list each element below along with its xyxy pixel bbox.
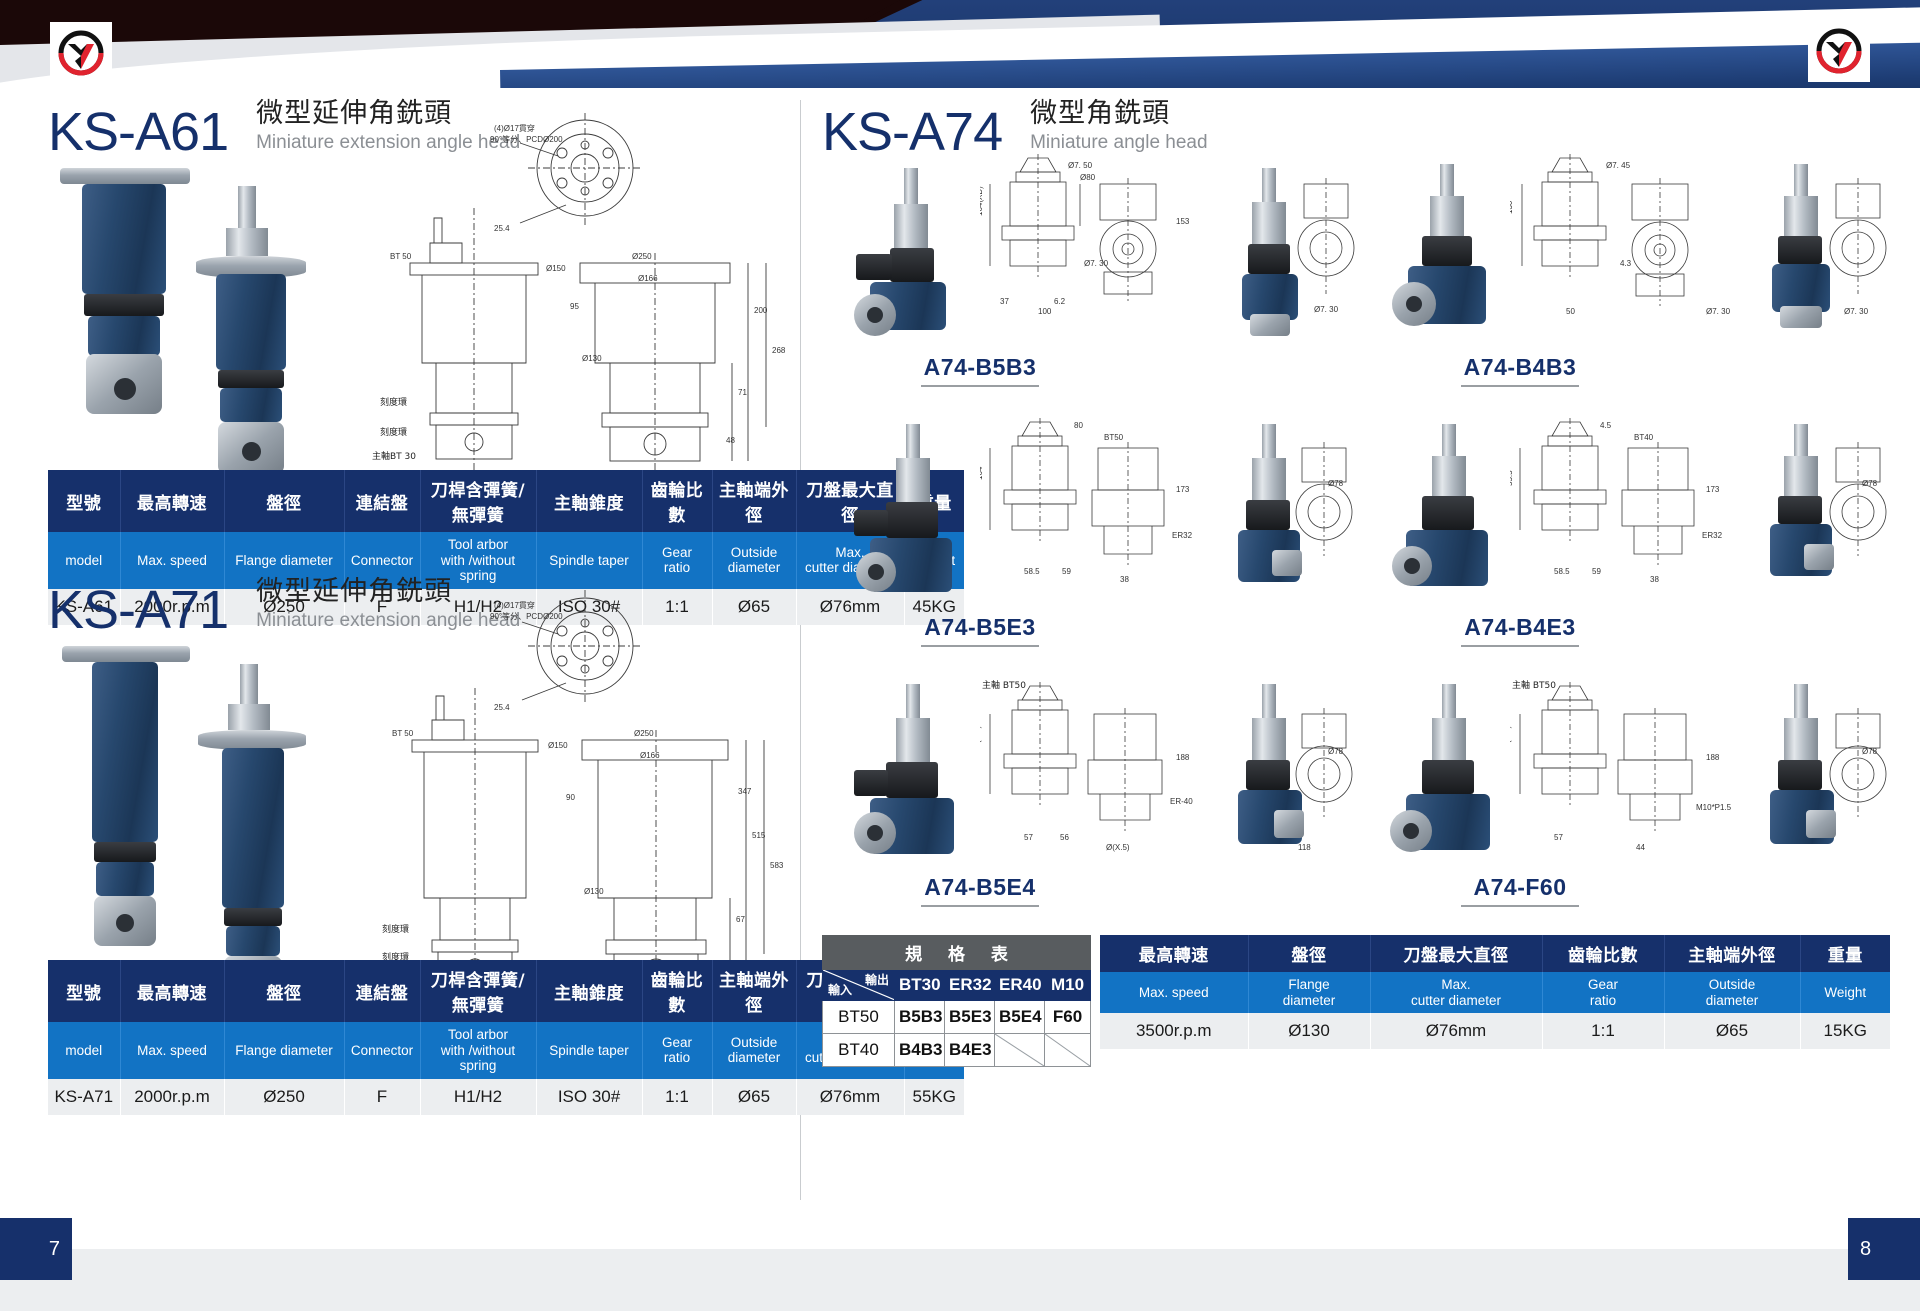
spec-table-a74: 最高轉速盤徑刀盤最大直徑齒輪比數主軸端外徑重量 Max. speedFlange… xyxy=(1100,935,1890,1049)
spec-a61-header-cn-6: 齒輪比數 xyxy=(642,470,712,532)
cad-a74-3b: Ø78 xyxy=(1822,414,1894,604)
svg-text:44: 44 xyxy=(1636,843,1645,852)
svg-text:4.3: 4.3 xyxy=(1620,259,1632,268)
cad-a74-0: Ø7. 50 Ø80 164(XD) Ø7. 30 153 100 37 6.2 xyxy=(980,154,1220,344)
section-title-cn-a74: 微型角銑頭 xyxy=(1030,98,1207,129)
matrix-cell-1-0: B4B3 xyxy=(895,1034,945,1067)
svg-text:刻度環: 刻度環 xyxy=(380,396,407,408)
svg-text:58.5: 58.5 xyxy=(1024,567,1040,576)
svg-text:57: 57 xyxy=(1554,833,1563,842)
svg-text:Ø78: Ø78 xyxy=(1328,747,1344,756)
a74-label-underline-1 xyxy=(1461,385,1579,387)
svg-text:ER32: ER32 xyxy=(1172,531,1193,540)
spec-a71-cell-0-2: Ø250 xyxy=(224,1079,344,1115)
spec-a74-header-cn-1: 盤徑 xyxy=(1248,935,1370,972)
svg-text:主軸BT 30: 主軸BT 30 xyxy=(372,450,416,462)
spec-a74-header-cn-3: 齒輪比數 xyxy=(1542,935,1664,972)
matrix-header-row: 輸出輸入BT30ER32ER40M10 xyxy=(823,970,1091,1001)
svg-text:25.4: 25.4 xyxy=(494,703,510,712)
svg-text:37: 37 xyxy=(1000,297,1009,306)
cad-a74-1b: Ø7. 30 xyxy=(1822,154,1894,344)
matrix-title-row: 規 格 表 xyxy=(823,936,1091,970)
spec-a61-header-cn-2: 盤徑 xyxy=(224,470,344,532)
svg-text:50: 50 xyxy=(1566,307,1575,316)
svg-text:Ø78: Ø78 xyxy=(1862,747,1878,756)
spec-a71-header-en-5: Spindle taper xyxy=(536,1022,642,1079)
a74-variant-label-2: A74-B5E3 xyxy=(820,614,1140,641)
cad-note-bolt-2: 90°等分、PCDØ200 xyxy=(490,134,563,144)
spec-a74-header-cn-0: 最高轉速 xyxy=(1100,935,1248,972)
spec-table-a74-header-cn: 最高轉速盤徑刀盤最大直徑齒輪比數主軸端外徑重量 xyxy=(1100,935,1890,972)
svg-text:Ø7. 50: Ø7. 50 xyxy=(1068,161,1093,170)
matrix-empty-slash-icon xyxy=(995,1034,1044,1066)
cad-a74-2: 80 BT50 164 173 ER32 58.5 59 38 xyxy=(980,414,1220,604)
section-code-a71: KS-A71 xyxy=(48,583,228,637)
svg-text:67: 67 xyxy=(736,915,745,924)
cad-note-bolt-1: (4)Ø17貫穿 xyxy=(494,123,535,133)
footer-grey-band xyxy=(0,1249,1920,1311)
section-code-a74: KS-A74 xyxy=(822,105,1002,159)
matrix-corner-slash-icon xyxy=(823,970,894,1000)
matrix-row-header-1: BT40 xyxy=(823,1034,895,1067)
svg-text:6.2: 6.2 xyxy=(1054,297,1066,306)
company-logo-icon-right xyxy=(1808,20,1870,82)
svg-text:42(X.2): 42(X.2) xyxy=(980,725,982,752)
matrix-table-a74: 規 格 表 輸出輸入BT30ER32ER40M10 BT50B5B3B5E3B5… xyxy=(822,935,1091,1067)
a74-label-underline-2 xyxy=(921,645,1039,647)
spec-a71-header-cn-3: 連結盤 xyxy=(344,960,420,1022)
spec-a61-header-cn-1: 最高轉速 xyxy=(120,470,224,532)
a74-label-underline-5 xyxy=(1461,905,1579,907)
spec-a74-header-en-4: Outsidediameter xyxy=(1664,972,1800,1013)
matrix-col-header-0: BT30 xyxy=(895,970,945,1001)
a74-variant-label-4: A74-B5E4 xyxy=(820,874,1140,901)
product-photos-a61: (4)Ø17貫穿 90°等分、PCDØ200 25.4 BT 50 Ø150 Ø… xyxy=(0,168,800,468)
a74-label-underline-0 xyxy=(921,385,1039,387)
svg-text:100: 100 xyxy=(1038,307,1052,316)
a74-variant-3: 4.5 BT40 55.5 173 ER32 58.5 59 38 xyxy=(1360,414,1900,658)
spec-a74-cell-0-4: Ø65 xyxy=(1664,1013,1800,1049)
section-code-a61: KS-A61 xyxy=(48,105,228,159)
page-number-right: 8 xyxy=(1848,1218,1920,1280)
cad-a74-4b: Ø78 118 xyxy=(1288,674,1360,864)
product-photos-a71: (4)Ø17貫穿 90°等分、PCDØ200 25.4 BT 50 Ø150 Ø… xyxy=(0,646,800,966)
svg-text:Ø150: Ø150 xyxy=(546,264,566,273)
a74-variant-label-3: A74-B4E3 xyxy=(1360,614,1680,641)
spec-table-a74-header-en: Max. speedFlangediameterMax.cutter diame… xyxy=(1100,972,1890,1013)
spec-a71-cell-0-4: H1/H2 xyxy=(420,1079,536,1115)
cad-a74-1: Ø7. 45 130 4.3 Ø7. 30 50 xyxy=(1510,154,1750,344)
svg-text:Ø78: Ø78 xyxy=(1328,479,1344,488)
spec-a74-header-en-5: Weight xyxy=(1800,972,1890,1013)
page-footer: 7 8 xyxy=(0,1218,1920,1311)
svg-text:164: 164 xyxy=(980,466,984,480)
spec-a71-header-cn-6: 齒輪比數 xyxy=(642,960,712,1022)
spec-a71-header-en-2: Flange diameter xyxy=(224,1022,344,1079)
spec-a71-header-cn-4: 刀桿含彈簧/無彈簧 xyxy=(420,960,536,1022)
spec-a61-header-cn-0: 型號 xyxy=(48,470,120,532)
svg-text:200: 200 xyxy=(754,306,768,315)
svg-text:Ø7. 30: Ø7. 30 xyxy=(1844,307,1869,316)
spec-a71-header-cn-7: 主軸端外徑 xyxy=(712,960,796,1022)
a74-variant-label-5: A74-F60 xyxy=(1360,874,1680,901)
svg-text:Ø80: Ø80 xyxy=(1080,173,1096,182)
spec-a71-header-cn-1: 最高轉速 xyxy=(120,960,224,1022)
svg-text:BT 50: BT 50 xyxy=(392,729,414,738)
spec-a61-header-en-6: Gearratio xyxy=(642,532,712,589)
svg-text:Ø166: Ø166 xyxy=(640,751,660,760)
cad-a74-3: 4.5 BT40 55.5 173 ER32 58.5 59 38 xyxy=(1510,414,1750,604)
svg-text:Ø7. 30: Ø7. 30 xyxy=(1706,307,1731,316)
svg-text:Ø130: Ø130 xyxy=(582,354,602,363)
cad-a74-5: 主軸 BT50 42(X.2) 188 M10*P1.5 57 44 xyxy=(1510,674,1750,864)
svg-text:173: 173 xyxy=(1706,485,1720,494)
spec-a71-header-cn-0: 型號 xyxy=(48,960,120,1022)
svg-text:57: 57 xyxy=(1024,833,1033,842)
svg-text:25.4: 25.4 xyxy=(494,224,510,233)
matrix-row-header-0: BT50 xyxy=(823,1001,895,1034)
svg-text:42(X.2): 42(X.2) xyxy=(1510,725,1512,752)
matrix-cell-0-1: B5E3 xyxy=(945,1001,995,1034)
spec-a71-header-en-7: Outsidediameter xyxy=(712,1022,796,1079)
matrix-cell-1-1: B4E3 xyxy=(945,1034,995,1067)
spec-a71-header-cn-5: 主軸錐度 xyxy=(536,960,642,1022)
svg-text:Ø78: Ø78 xyxy=(1862,479,1878,488)
matrix-corner-cell: 輸出輸入 xyxy=(823,970,895,1001)
svg-text:130: 130 xyxy=(1510,200,1514,214)
section-heading-a74: KS-A74 微型角銑頭 Miniature angle head xyxy=(822,98,1208,159)
spec-a71-header-en-1: Max. speed xyxy=(120,1022,224,1079)
svg-text:583: 583 xyxy=(770,861,784,870)
svg-text:55.5: 55.5 xyxy=(1510,470,1514,486)
svg-text:Ø166: Ø166 xyxy=(638,274,658,283)
svg-text:Ø130: Ø130 xyxy=(584,887,604,896)
right-column: KS-A74 微型角銑頭 Miniature angle head xyxy=(800,88,1920,1218)
section-title-en-a74: Miniature angle head xyxy=(1030,131,1207,156)
matrix-col-header-2: ER40 xyxy=(995,970,1045,1001)
matrix-cell-1-3 xyxy=(1045,1034,1091,1067)
spec-table-a74-body: 3500r.p.mØ130Ø76mm1:1Ø6515KG xyxy=(1100,1013,1890,1049)
matrix-col-header-1: ER32 xyxy=(945,970,995,1001)
svg-text:BT40: BT40 xyxy=(1634,433,1654,442)
svg-text:58.5: 58.5 xyxy=(1554,567,1570,576)
matrix-cell-1-2 xyxy=(995,1034,1045,1067)
spec-a61-header-en-5: Spindle taper xyxy=(536,532,642,589)
spec-a71-header-en-6: Gearratio xyxy=(642,1022,712,1079)
svg-text:38: 38 xyxy=(1650,575,1659,584)
matrix-body: BT50B5B3B5E3B5E4F60BT40B4B3B4E3 xyxy=(823,1001,1091,1067)
spec-a74-cell-0-2: Ø76mm xyxy=(1370,1013,1542,1049)
matrix-row: BT50B5B3B5E3B5E4F60 xyxy=(823,1001,1091,1034)
spec-a74-header-cn-4: 主軸端外徑 xyxy=(1664,935,1800,972)
svg-text:164(XD): 164(XD) xyxy=(980,186,984,216)
svg-text:90°等分、PCDØ200: 90°等分、PCDØ200 xyxy=(490,611,563,621)
spec-a74-cell-0-3: 1:1 xyxy=(1542,1013,1664,1049)
svg-text:59: 59 xyxy=(1062,567,1071,576)
spec-a74-cell-0-0: 3500r.p.m xyxy=(1100,1013,1248,1049)
matrix-title: 規 格 表 xyxy=(823,936,1091,970)
cad-a74-5b: Ø78 xyxy=(1822,674,1894,864)
svg-text:48: 48 xyxy=(726,436,735,445)
catalog-page: KS-A61 微型延伸角銑頭 Miniature extension angle… xyxy=(0,0,1920,1311)
svg-text:188: 188 xyxy=(1706,753,1720,762)
page-number-left: 7 xyxy=(0,1218,72,1280)
matrix-row: BT40B4B3B4E3 xyxy=(823,1034,1091,1067)
svg-text:173: 173 xyxy=(1176,485,1190,494)
svg-text:59: 59 xyxy=(1592,567,1601,576)
spec-a71-header-cn-2: 盤徑 xyxy=(224,960,344,1022)
svg-text:BT50: BT50 xyxy=(1104,433,1124,442)
page-banner xyxy=(0,0,1920,88)
svg-text:主軸 BT50: 主軸 BT50 xyxy=(982,679,1026,691)
svg-text:268: 268 xyxy=(772,346,786,355)
spec-a74-header-en-0: Max. speed xyxy=(1100,972,1248,1013)
spec-a71-cell-0-3: F xyxy=(344,1079,420,1115)
a74-variant-label-1: A74-B4B3 xyxy=(1360,354,1680,381)
cad-a74-2b: Ø78 xyxy=(1288,414,1360,604)
svg-text:4.5: 4.5 xyxy=(1600,421,1612,430)
a74-label-underline-3 xyxy=(1461,645,1579,647)
spec-a74-header-en-3: Gearratio xyxy=(1542,972,1664,1013)
spec-a71-cell-0-0: KS-A71 xyxy=(48,1079,120,1115)
svg-text:刻度環: 刻度環 xyxy=(380,426,407,438)
svg-text:ER32: ER32 xyxy=(1702,531,1723,540)
svg-text:Ø7. 30: Ø7. 30 xyxy=(1314,305,1339,314)
matrix-cell-0-2: B5E4 xyxy=(995,1001,1045,1034)
spec-a61-header-cn-4: 刀桿含彈簧/無彈簧 xyxy=(420,470,536,532)
svg-text:71: 71 xyxy=(738,388,747,397)
svg-text:(4)Ø17貫穿: (4)Ø17貫穿 xyxy=(494,600,535,610)
a74-variant-2: 80 BT50 164 173 ER32 58.5 59 38 xyxy=(820,414,1360,658)
svg-text:Ø7. 30: Ø7. 30 xyxy=(1084,259,1109,268)
a74-variant-1: Ø7. 45 130 4.3 Ø7. 30 50 xyxy=(1360,154,1900,398)
svg-text:ER-40: ER-40 xyxy=(1170,797,1193,806)
svg-text:刻度環: 刻度環 xyxy=(382,923,409,935)
a74-variant-4: 主軸 BT50 42(X.2) 188 ER-40 57 56 Ø(X.5) xyxy=(820,674,1360,918)
cad-a74-0b: Ø7. 30 xyxy=(1290,154,1360,344)
matrix-cell-0-0: B5B3 xyxy=(895,1001,945,1034)
spec-a71-cell-0-7: Ø65 xyxy=(712,1079,796,1115)
spec-a74-header-cn-5: 重量 xyxy=(1800,935,1890,972)
a74-variant-0: Ø7. 50 Ø80 164(XD) Ø7. 30 153 100 37 6.2 xyxy=(820,154,1360,398)
svg-text:515: 515 xyxy=(752,831,766,840)
spec-a61-header-cn-5: 主軸錐度 xyxy=(536,470,642,532)
spec-a71-cell-0-6: 1:1 xyxy=(642,1079,712,1115)
svg-text:BT 50: BT 50 xyxy=(390,252,412,261)
matrix-empty-slash-icon xyxy=(1045,1034,1090,1066)
company-logo-icon-left xyxy=(50,22,112,84)
spec-a71-cell-0-5: ISO 30# xyxy=(536,1079,642,1115)
spec-a61-header-cn-3: 連結盤 xyxy=(344,470,420,532)
footer-white-band xyxy=(0,1218,1920,1249)
svg-text:153: 153 xyxy=(1176,217,1190,226)
svg-text:Ø250: Ø250 xyxy=(634,729,654,738)
left-column: KS-A61 微型延伸角銑頭 Miniature extension angle… xyxy=(0,88,800,1218)
svg-text:Ø250: Ø250 xyxy=(632,252,652,261)
matrix-col-header-3: M10 xyxy=(1045,970,1091,1001)
spec-a71-header-en-0: model xyxy=(48,1022,120,1079)
spec-a71-header-en-4: Tool arborwith /without spring xyxy=(420,1022,536,1079)
spec-a74-row: 3500r.p.mØ130Ø76mm1:1Ø6515KG xyxy=(1100,1013,1890,1049)
svg-text:Ø150: Ø150 xyxy=(548,741,568,750)
svg-text:56: 56 xyxy=(1060,833,1069,842)
svg-text:Ø7. 45: Ø7. 45 xyxy=(1606,161,1631,170)
svg-text:90: 90 xyxy=(566,793,575,802)
spec-a71-header-en-3: Connector xyxy=(344,1022,420,1079)
svg-text:主軸 BT50: 主軸 BT50 xyxy=(1512,679,1556,691)
svg-text:M10*P1.5: M10*P1.5 xyxy=(1696,803,1732,812)
svg-text:80: 80 xyxy=(1074,421,1083,430)
svg-text:Ø(X.5): Ø(X.5) xyxy=(1106,843,1130,852)
svg-text:347: 347 xyxy=(738,787,752,796)
spec-a74-header-cn-2: 刀盤最大直徑 xyxy=(1370,935,1542,972)
spec-a71-cell-0-1: 2000r.p.m xyxy=(120,1079,224,1115)
spec-a74-cell-0-1: Ø130 xyxy=(1248,1013,1370,1049)
spec-a74-header-en-1: Flangediameter xyxy=(1248,972,1370,1013)
a74-variant-5: 主軸 BT50 42(X.2) 188 M10*P1.5 57 44 xyxy=(1360,674,1900,918)
a74-variant-label-0: A74-B5B3 xyxy=(820,354,1140,381)
matrix-cell-0-3: F60 xyxy=(1045,1001,1091,1034)
a74-label-underline-4 xyxy=(921,905,1039,907)
svg-text:38: 38 xyxy=(1120,575,1129,584)
spec-a61-header-en-7: Outsidediameter xyxy=(712,532,796,589)
svg-text:118: 118 xyxy=(1298,843,1311,852)
svg-text:188: 188 xyxy=(1176,753,1190,762)
spec-a74-cell-0-5: 15KG xyxy=(1800,1013,1890,1049)
spec-a61-header-cn-7: 主軸端外徑 xyxy=(712,470,796,532)
spec-a74-header-en-2: Max.cutter diameter xyxy=(1370,972,1542,1013)
cad-a74-4: 主軸 BT50 42(X.2) 188 ER-40 57 56 Ø(X.5) xyxy=(980,674,1220,864)
svg-text:95: 95 xyxy=(570,302,579,311)
